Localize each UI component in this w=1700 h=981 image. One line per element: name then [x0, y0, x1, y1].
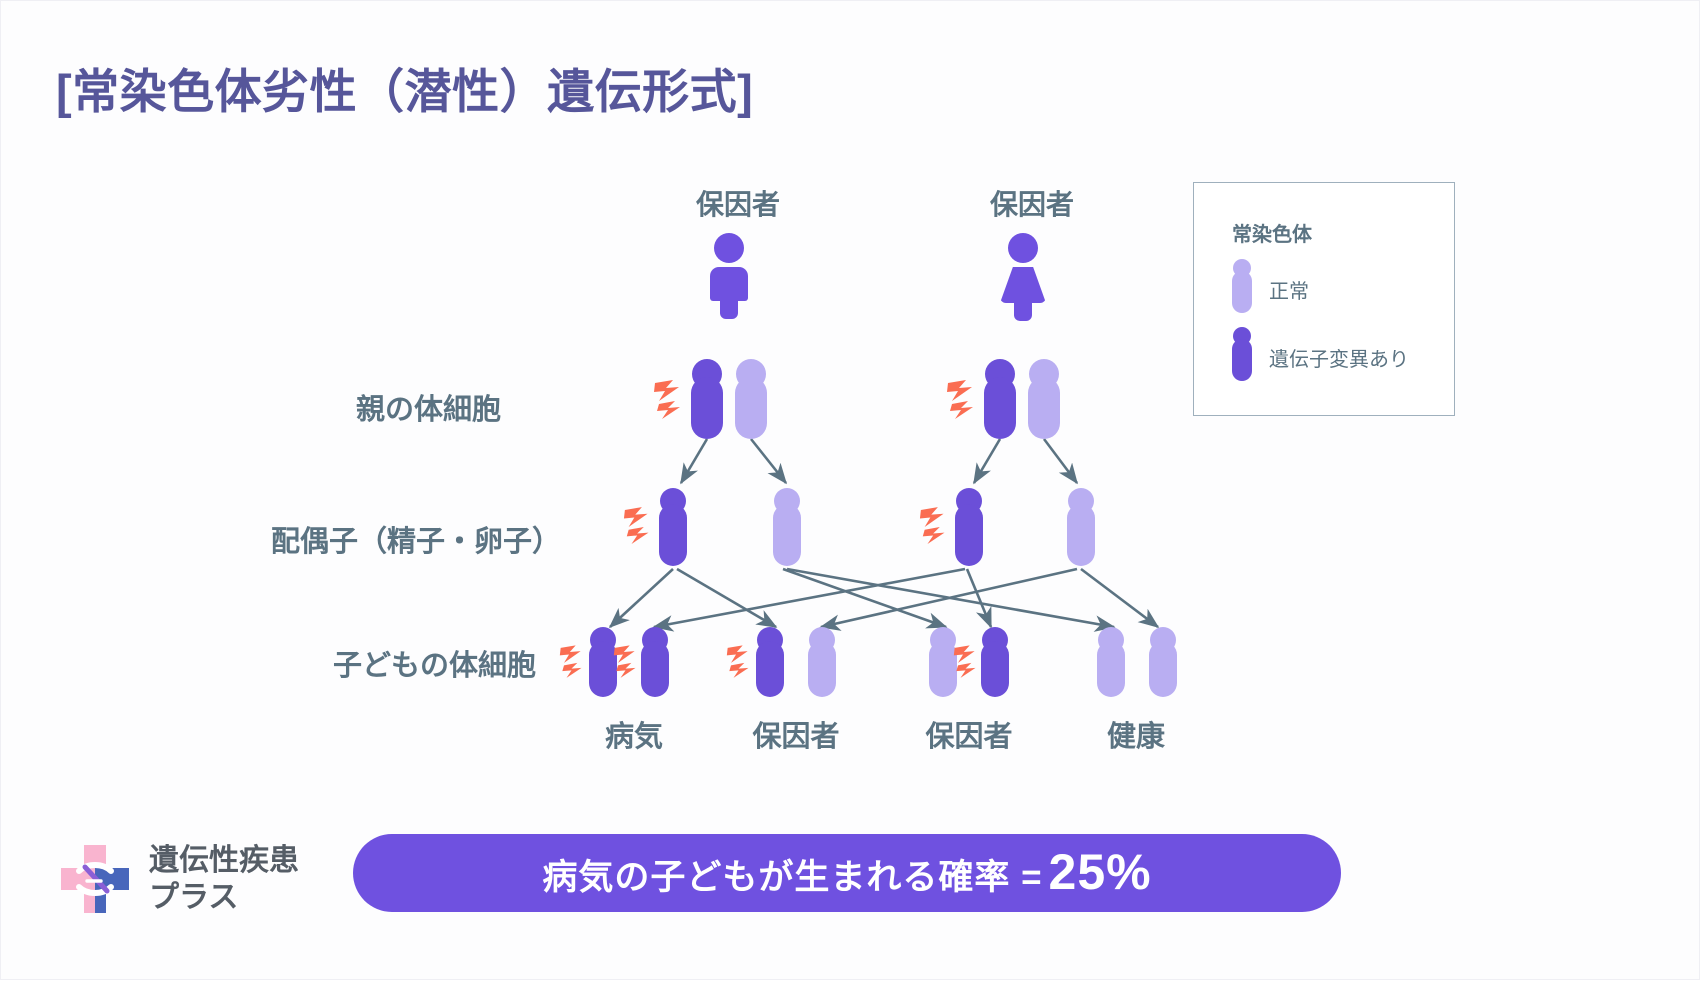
probability-banner: 病気の子どもが生まれる確率 = 25%	[353, 834, 1341, 912]
probability-sentence: 病気の子どもが生まれる確率 =	[542, 849, 1042, 900]
diagram-canvas: [常染色体劣性（潜性）遺伝形式] 親の体細胞 配偶子（精子・卵子） 子どもの体細…	[0, 0, 1700, 980]
legend-title: 常染色体	[1232, 218, 1312, 247]
parent-father: 保因者	[697, 183, 761, 313]
parent-father-label: 保因者	[696, 183, 760, 223]
legend-label-mutated: 遺伝子変異あり	[1269, 343, 1409, 372]
chromosome-child1-b-mutated	[641, 627, 669, 697]
logo-text-line2: プラス	[149, 880, 299, 917]
chromosome-child2-a-mutated	[756, 627, 784, 697]
legend-label-normal: 正常	[1269, 275, 1309, 304]
row-label-gamete: 配偶子（精子・卵子）	[1, 518, 561, 560]
male-figure-icon	[697, 233, 761, 313]
row-label-parent-somatic: 親の体細胞	[1, 386, 501, 428]
site-logo[interactable]: 遺伝性疾患 プラス	[57, 839, 327, 919]
mutation-bolt-icon	[613, 643, 643, 681]
child-outcome-label-3: 保因者	[894, 713, 1044, 755]
mutation-bolt-icon	[653, 379, 689, 421]
chromosome-child2-b-normal	[808, 627, 836, 697]
parent-mother-label: 保因者	[990, 183, 1054, 223]
probability-value: 25%	[1049, 847, 1152, 897]
child-outcome-label-4: 健康	[1061, 713, 1211, 755]
legend-box: 常染色体 正常 遺伝子変異あり	[1193, 182, 1455, 416]
chromosome-parent2-normal	[1028, 359, 1060, 439]
chromosome-child3-a-normal	[929, 627, 957, 697]
chromosome-child3-b-mutated	[981, 627, 1009, 697]
row-label-child-somatic: 子どもの体細胞	[1, 642, 536, 684]
legend-item-mutated	[1232, 327, 1252, 381]
mutation-bolt-icon	[559, 643, 589, 681]
chromosome-child1-a-mutated	[589, 627, 617, 697]
probability-banner-text: 病気の子どもが生まれる確率 = 25%	[542, 847, 1151, 900]
mutation-bolt-icon	[946, 379, 982, 421]
chromosome-parent2-mutated	[984, 359, 1016, 439]
chromosome-gamete-4-normal	[1067, 488, 1095, 566]
female-figure-icon	[991, 233, 1055, 313]
page-title: [常染色体劣性（潜性）遺伝形式]	[56, 53, 753, 122]
mutation-bolt-icon	[919, 506, 953, 546]
legend-item-normal	[1232, 259, 1252, 313]
chromosome-child4-b-normal	[1149, 627, 1177, 697]
child-outcome-label-1: 病気	[559, 713, 709, 755]
chromosome-parent1-normal	[735, 359, 767, 439]
logo-text-line1: 遺伝性疾患	[149, 843, 299, 880]
child-outcome-label-2: 保因者	[721, 713, 871, 755]
mutation-bolt-icon	[623, 506, 657, 546]
parent-mother: 保因者	[991, 183, 1055, 313]
chromosome-parent1-mutated	[691, 359, 723, 439]
logo-text: 遺伝性疾患 プラス	[149, 843, 299, 916]
chromosome-child4-a-normal	[1097, 627, 1125, 697]
mutation-bolt-icon	[953, 643, 983, 681]
chromosome-gamete-1-mutated	[659, 488, 687, 566]
chromosome-gamete-3-mutated	[955, 488, 983, 566]
logo-cross-dna-icon	[57, 841, 133, 917]
chromosome-gamete-2-normal	[773, 488, 801, 566]
mutation-bolt-icon	[726, 643, 756, 681]
